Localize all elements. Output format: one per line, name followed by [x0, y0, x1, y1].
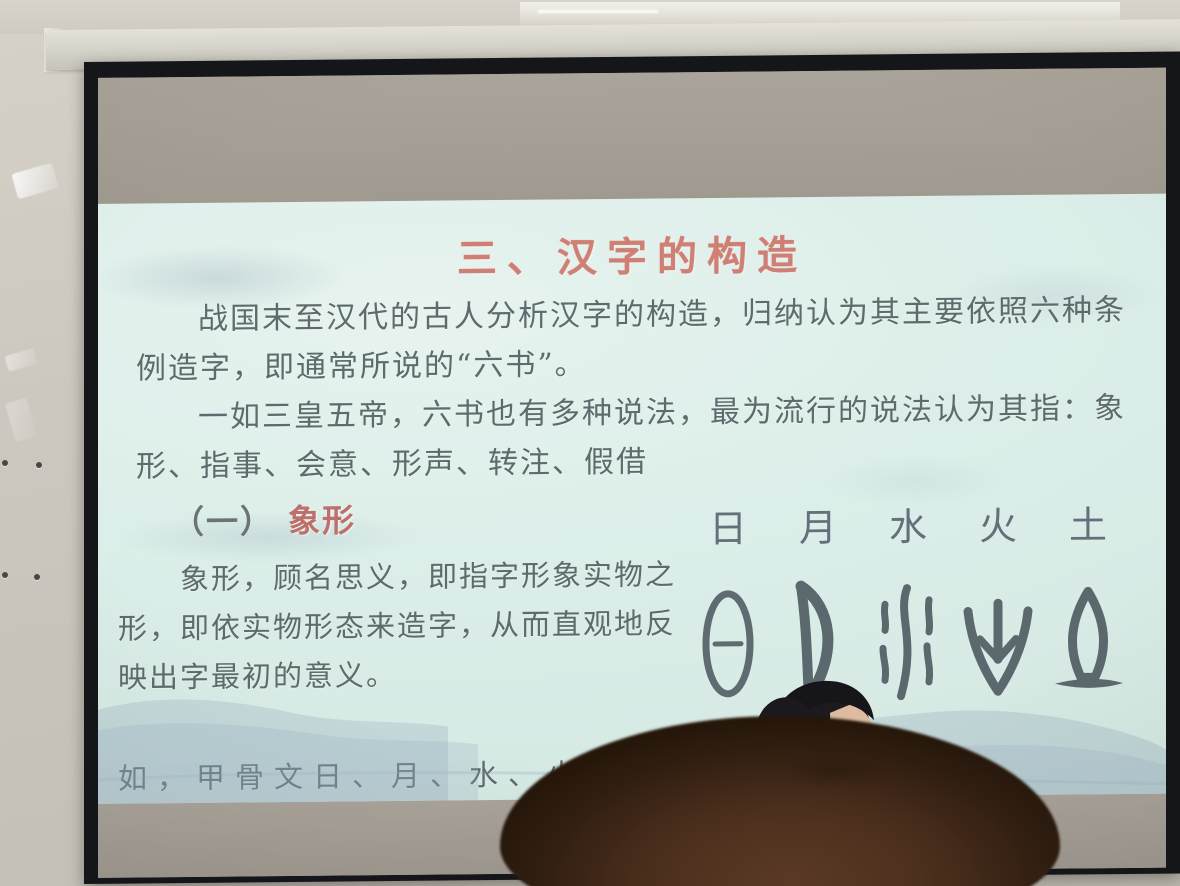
- oracle-bone-character-row: [686, 575, 1130, 709]
- oracle-water-icon: [866, 577, 950, 708]
- oracle-earth-icon: [1046, 575, 1130, 706]
- left-whiteboard: [0, 0, 96, 886]
- modern-char-fire: 火: [956, 495, 1040, 551]
- slide-title: 三、汉字的构造: [98, 220, 1166, 288]
- slide-paragraph-1: 战国末至汉代的古人分析汉字的构造，归纳认为其主要依照六种条例造字，即通常所说的“…: [136, 286, 1128, 394]
- slide-paragraph-2: 一如三皇五帝，六书也有多种说法，最为流行的说法认为其指：象形、指事、会意、形声、…: [136, 384, 1128, 492]
- example-character-table: 日 月 水 火 土: [686, 494, 1130, 709]
- whiteboard-glare: [11, 163, 59, 200]
- section-body-text: 象形，顾名思义，即指字形象实物之形，即依实物形态来造字，从而直观地反映出字最初的…: [118, 550, 678, 702]
- section-number: （一）: [172, 502, 274, 541]
- oracle-moon-icon: [776, 578, 860, 709]
- section-name: 象形: [288, 501, 356, 540]
- whiteboard-screw: [2, 460, 8, 466]
- foreground-hair-strands: [760, 746, 910, 794]
- section-heading: （一）象形: [172, 495, 356, 543]
- modern-char-water: 水: [866, 496, 950, 552]
- modern-char-earth: 土: [1046, 494, 1130, 550]
- oracle-sun-icon: [686, 578, 770, 709]
- oracle-fire-icon: [956, 576, 1040, 707]
- classroom-scene: 三、汉字的构造 战国末至汉代的古人分析汉字的构造，归纳认为其主要依照六种条例造字…: [0, 0, 1180, 886]
- whiteboard-glare-tertiary: [5, 398, 37, 443]
- whiteboard-glare-secondary: [4, 348, 37, 372]
- whiteboard-screw: [34, 574, 40, 580]
- presentation-slide: 三、汉字的构造 战国末至汉代的古人分析汉字的构造，归纳认为其主要依照六种条例造字…: [98, 194, 1166, 804]
- modern-char-sun: 日: [686, 497, 770, 553]
- whiteboard-screw: [36, 462, 42, 468]
- whiteboard-screw: [2, 572, 8, 578]
- screen-unlit-top-band: [98, 68, 1166, 206]
- modern-character-row: 日 月 水 火 土: [686, 494, 1130, 553]
- modern-char-moon: 月: [776, 497, 860, 553]
